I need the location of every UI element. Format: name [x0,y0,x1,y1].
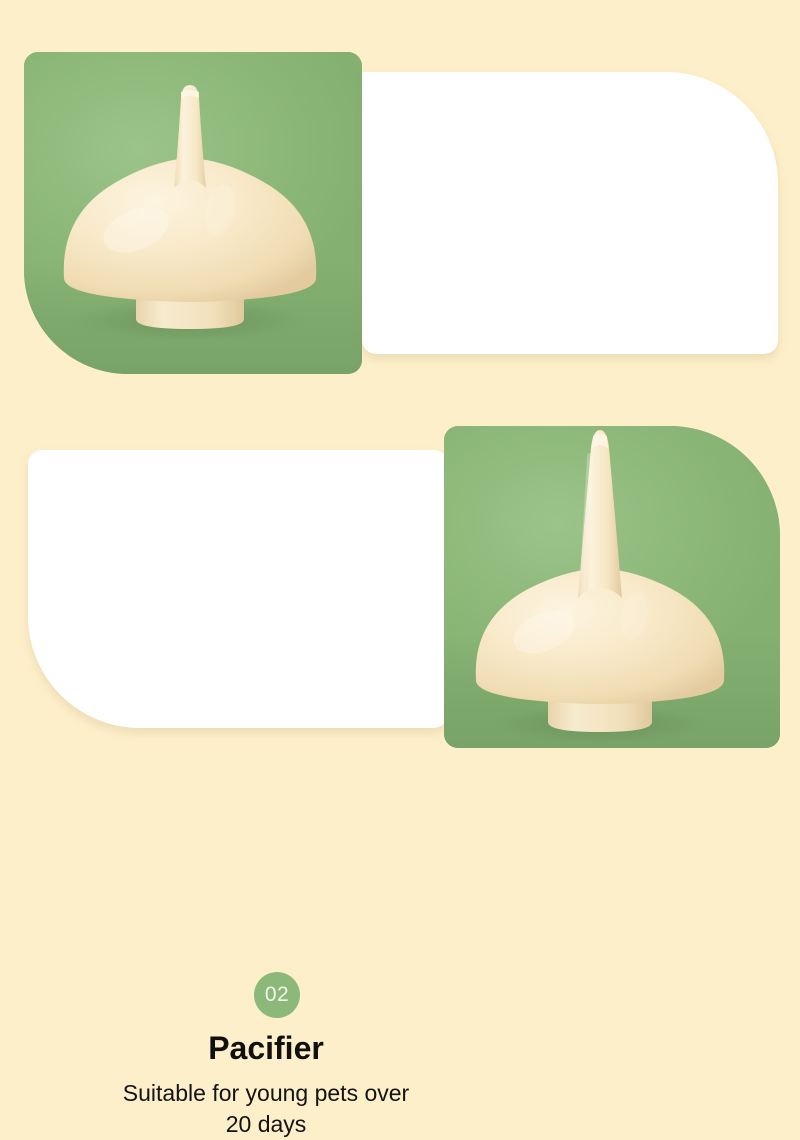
card-1-description-line-1: Suitable for young pets [748,300,800,331]
card-2-text-panel: 02 Pacifier Suitable for young pets over… [28,450,448,728]
card-1-photo-panel [24,52,362,374]
short-pacifier-image [24,52,362,374]
card-2-photo-panel [444,426,780,748]
product-feature-infographic: 01 Short pacifier Suitable for young pet… [0,0,800,800]
card-2-description-line-1: Suitable for young pets over [70,1078,462,1109]
card-1-description-line-2: within 20 days [748,331,800,362]
card-2-description-line-2: 20 days [70,1109,462,1140]
card-2-number-badge: 02 [254,972,300,1018]
card-1-description: Suitable for young pets within 20 days [748,300,800,362]
long-pacifier-image [444,426,780,748]
card-2-description: Suitable for young pets over 20 days [70,1078,462,1140]
card-1-text-panel: 01 Short pacifier Suitable for young pet… [362,72,778,354]
card-1-title: Short pacifier [762,252,800,289]
card-2-title: Pacifier [92,1030,440,1067]
